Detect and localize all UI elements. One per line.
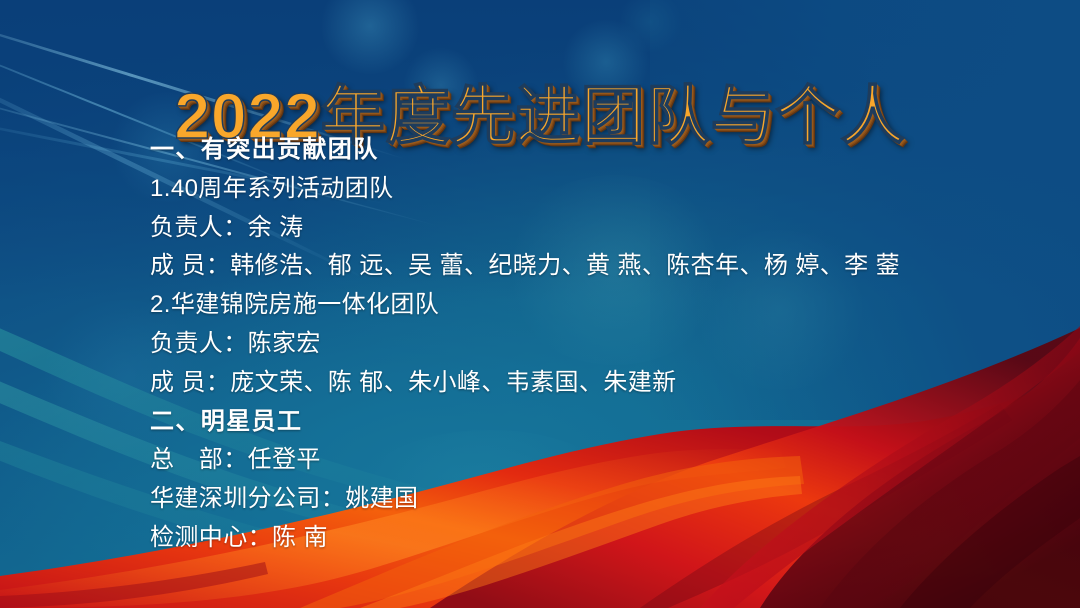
content-line-team-2-name: 2.华建锦院房施一体化团队 [150,286,1040,325]
content-line-team-2-leader: 负责人：陈家宏 [150,325,1040,364]
content-line-section-1-heading: 一、有突出贡献团队 [150,131,1040,170]
content-line-team-1-leader: 负责人：余 涛 [150,209,1040,248]
content-line-team-1-name: 1.40周年系列活动团队 [150,170,1040,209]
content-line-star-hq: 总 部：任登平 [150,441,1040,480]
content-line-team-1-members: 成 员：韩修浩、郁 远、吴 蕾、纪晓力、黄 燕、陈杏年、杨 婷、李 蓥 [150,247,1040,286]
content-line-star-shenzhen: 华建深圳分公司：姚建国 [150,480,1040,519]
presentation-slide: 2022年度先进团队与个人 一、有突出贡献团队 1.40周年系列活动团队 负责人… [0,0,1080,608]
content-line-team-2-members: 成 员：庞文荣、陈 郁、朱小峰、韦素国、朱建新 [150,364,1040,403]
slide-content: 一、有突出贡献团队 1.40周年系列活动团队 负责人：余 涛 成 员：韩修浩、郁… [150,131,1040,558]
content-line-section-2-heading: 二、明星员工 [150,403,1040,442]
content-line-star-testing-center: 检测中心：陈 南 [150,519,1040,558]
